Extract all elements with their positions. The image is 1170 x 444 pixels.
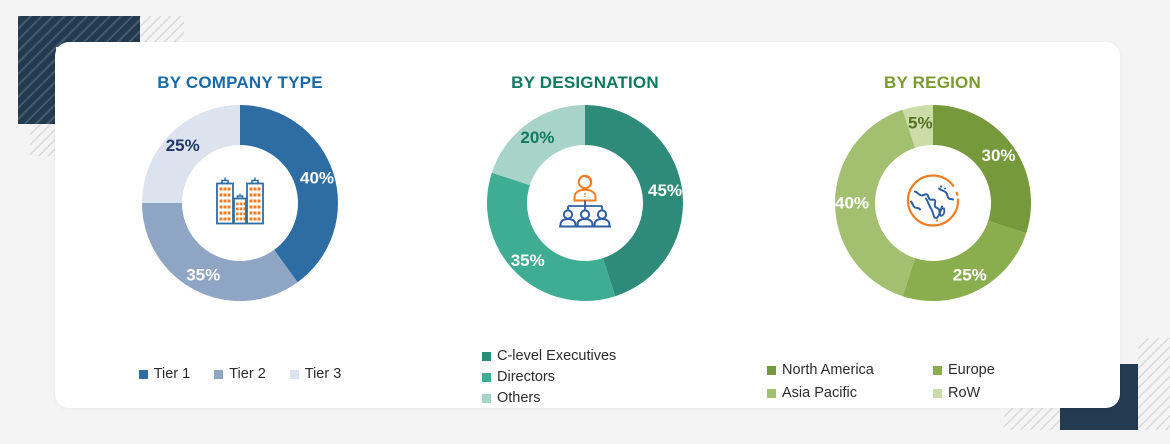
donut-chart-company-type: 40%35%25% [140, 103, 340, 303]
legend-swatch [482, 352, 491, 361]
legend-swatch [767, 389, 776, 398]
panel-by-designation: BY DESIGNATION 45%35%20% [425, 42, 745, 408]
legend-swatch [482, 394, 491, 403]
donut-chart-region: 30%25%40%5% [833, 103, 1033, 303]
legend-item[interactable]: Tier 2 [214, 364, 266, 385]
org-chart-people-icon [555, 171, 615, 236]
panel-title-company-type: BY COMPANY TYPE [55, 73, 425, 93]
donut-slice-label: 20% [520, 128, 554, 147]
legend-label: Europe [948, 360, 995, 381]
donut-slice-label: 45% [648, 181, 682, 200]
panel-by-region: BY REGION 30%25%40%5% [745, 42, 1120, 408]
legend-item[interactable]: Others [482, 388, 745, 409]
legend-swatch [933, 366, 942, 375]
legend-item[interactable]: Europe [933, 360, 1038, 381]
decor-bracket-bottom-right-horizontal [1060, 406, 1138, 430]
donut-slice-label: 35% [186, 266, 220, 285]
legend-label: Tier 2 [229, 364, 266, 385]
legend-item[interactable]: Directors [482, 367, 745, 388]
legend-item[interactable]: Tier 1 [139, 364, 191, 385]
panel-by-company-type: BY COMPANY TYPE 40%35%25% [55, 42, 425, 408]
legend-label: Asia Pacific [782, 383, 857, 404]
decor-hatch-bottom-right-b [1004, 406, 1060, 430]
donut-slice-label: 25% [952, 266, 986, 285]
legend-swatch [290, 370, 299, 379]
donut-slice-label: 40% [300, 168, 334, 187]
legend-item[interactable]: North America [767, 360, 915, 381]
legend-item[interactable]: C-level Executives [482, 346, 745, 367]
legend-swatch [214, 370, 223, 379]
donut-chart-designation: 45%35%20% [485, 103, 685, 303]
panel-title-region: BY REGION [745, 73, 1120, 93]
chart-panels: BY COMPANY TYPE 40%35%25% [55, 42, 1120, 408]
legend-company-type: Tier 1 Tier 2 Tier 3 [55, 364, 425, 385]
legend-label: RoW [948, 383, 980, 404]
legend-region: North America Europe Asia Pacific RoW [745, 360, 1120, 404]
donut-slice-label: 35% [511, 251, 545, 270]
globe-icon [901, 169, 965, 238]
legend-item[interactable]: RoW [933, 383, 1038, 404]
legend-swatch [482, 373, 491, 382]
legend-label: North America [782, 360, 874, 381]
legend-swatch [139, 370, 148, 379]
donut-slice-label: 40% [834, 194, 868, 213]
donut-slice-label: 25% [166, 136, 200, 155]
donut-slice-label: 5% [908, 113, 933, 132]
legend-designation: C-level Executives Directors Others [425, 346, 745, 409]
office-buildings-icon [209, 170, 271, 237]
donut-slice-label: 30% [981, 146, 1015, 165]
decor-hatch-bottom-right-a [1138, 338, 1170, 430]
legend-label: Tier 1 [154, 364, 191, 385]
legend-item[interactable]: Tier 3 [290, 364, 342, 385]
legend-label: Directors [497, 367, 555, 388]
legend-swatch [767, 366, 776, 375]
legend-label: C-level Executives [497, 346, 616, 367]
content-card: BY COMPANY TYPE 40%35%25% [55, 42, 1120, 408]
legend-swatch [933, 389, 942, 398]
decor-hatch-top-left-b [30, 124, 56, 156]
infographic-canvas: BY COMPANY TYPE 40%35%25% [0, 0, 1170, 444]
legend-label: Others [497, 388, 541, 409]
panel-title-designation: BY DESIGNATION [425, 73, 745, 93]
legend-item[interactable]: Asia Pacific [767, 383, 915, 404]
legend-label: Tier 3 [305, 364, 342, 385]
